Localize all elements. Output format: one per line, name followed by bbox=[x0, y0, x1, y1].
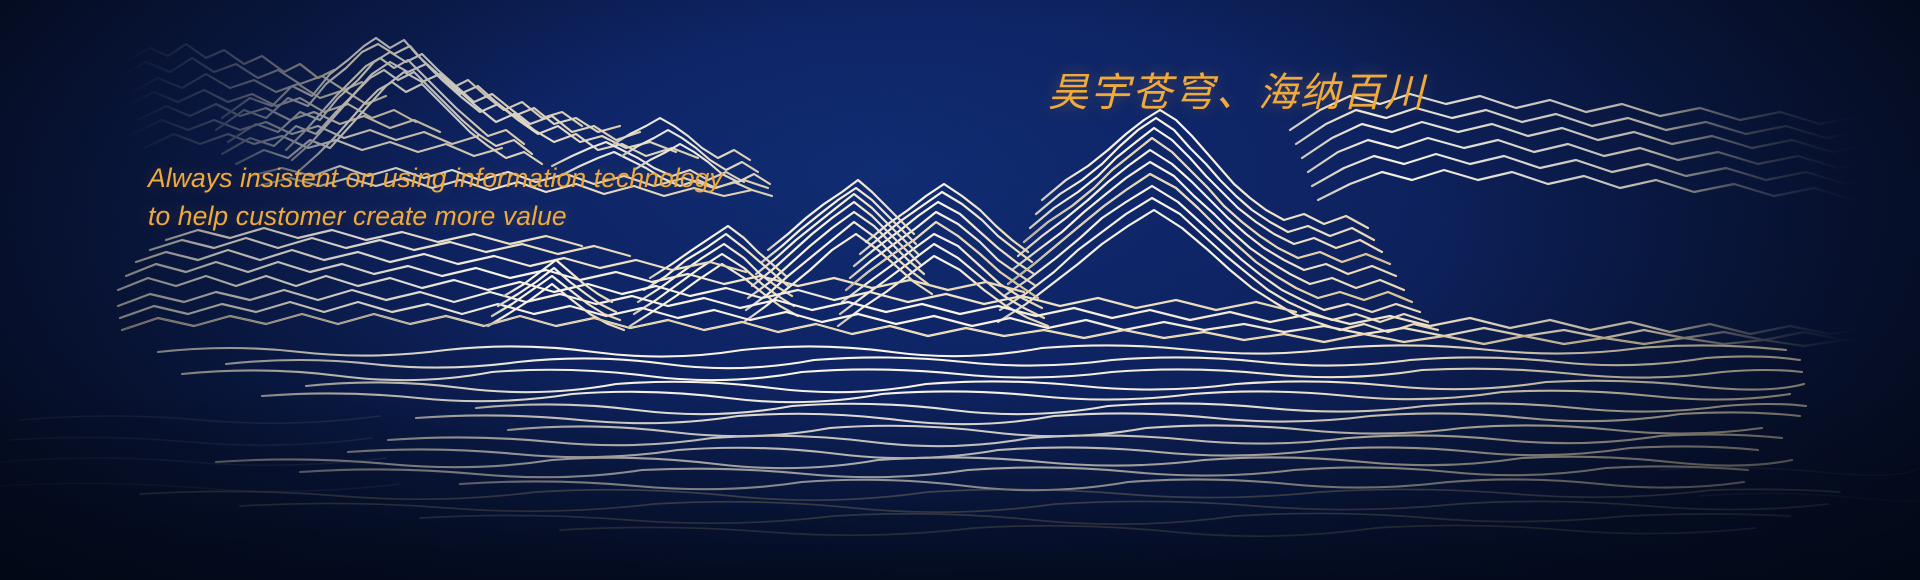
hero-banner: 昊宇苍穹、海纳百川 Always insistent on using info… bbox=[0, 0, 1920, 580]
headline-chinese: 昊宇苍穹、海纳百川 bbox=[1048, 60, 1426, 118]
tagline-english: Always insistent on using information te… bbox=[148, 160, 723, 235]
tagline-line-2: to help customer create more value bbox=[148, 198, 723, 236]
tagline-line-1: Always insistent on using information te… bbox=[148, 160, 723, 198]
vignette-overlay bbox=[0, 0, 1920, 580]
